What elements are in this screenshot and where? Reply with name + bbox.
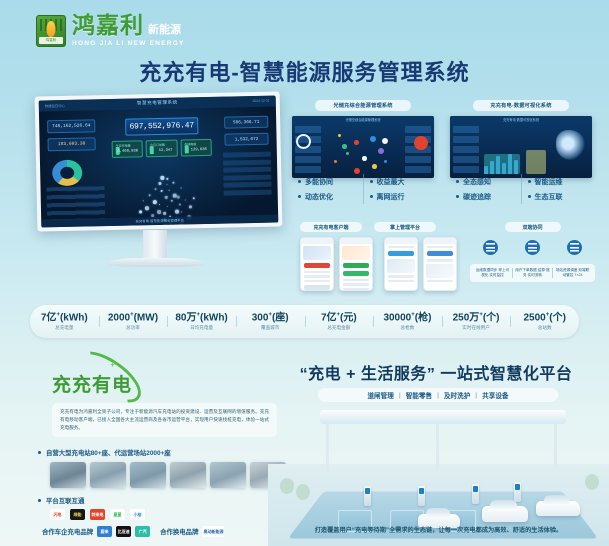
battery-icon [150, 146, 154, 154]
bullet-label: 收益最大 [377, 177, 405, 187]
company-logo: 鸿嘉利 鸿嘉利 新能源 HONG JIA LI NEW ENERGY [36, 14, 185, 47]
stat-unit: (kWh) [200, 312, 228, 323]
partner-brand-logo: 闪电 [50, 509, 65, 520]
dashboard-kpi-main: 697,552,976.47 [125, 117, 198, 136]
bullet-label: 多能协同 [305, 177, 333, 187]
phone-statusbar [424, 238, 456, 244]
feature-bullet: 动态优化 [298, 189, 363, 204]
logo-flame-icon [47, 21, 56, 37]
screenshot-china-map [556, 130, 586, 160]
list-item [223, 159, 271, 165]
logo-company-cn: 鸿嘉利 [72, 14, 144, 37]
bullet-dot-icon [528, 195, 531, 198]
phone-mockup [339, 237, 373, 291]
phone-content-line [388, 275, 414, 277]
phone-content-line [388, 246, 414, 248]
bullet-dot-icon [456, 195, 459, 198]
left-feature-rows: 自营大型充电站80+座、代运营场站2000+座 平台互联互通 闪电 绿能 特来电… [38, 448, 288, 537]
panel [295, 156, 321, 163]
bullet-label: 智能运维 [535, 177, 563, 187]
page-header: 鸿嘉利 鸿嘉利 新能源 HONG JIA LI NEW ENERGY 充充有电-… [0, 0, 609, 96]
platform-headline: “充电 + 生活服务” 一站式智慧化平台 [268, 360, 604, 384]
stat-item: 2000+(MW) 总功率 [99, 312, 168, 331]
stat-unit: (个) [549, 312, 566, 323]
screenshot-left-panels [453, 126, 479, 176]
screenshot-gauge-ring [296, 134, 311, 149]
bullet-column: 多能协同 动态优化 [292, 174, 363, 204]
stat-number: 30000 [383, 312, 411, 323]
dashboard-kpi-left-1: 748,162,526.64 [47, 119, 95, 133]
dashboard-screenshot: 光储充综合能源管理系统 [292, 116, 434, 178]
screenshot-topbar: 光储充综合能源管理系统 [292, 116, 434, 123]
list-item [223, 167, 271, 173]
phone-content-line [343, 283, 369, 285]
list-item [223, 182, 271, 188]
charging-pile-icon [418, 486, 425, 506]
logo-company-cn-sub: 新能源 [148, 23, 181, 37]
sync-cell: 用户下单数据 结算·账务 实时流转 [512, 268, 552, 278]
dashboard-feature-bullets: 多能协同 动态优化 收益最大 离网运行 [292, 174, 434, 204]
partner-brand-logo: 特来电 [90, 509, 105, 520]
separator: | [475, 392, 477, 399]
service-tag: 智能零售 [406, 390, 432, 400]
stat-item: 250万+(个) 实时在线用户 [442, 312, 511, 331]
logo-text-block: 鸿嘉利 新能源 HONG JIA LI NEW ENERGY [72, 14, 185, 47]
list-item [223, 174, 271, 180]
scene-canopy-post [326, 422, 329, 472]
row-label: 合作换电品牌 [160, 527, 198, 536]
screenshot-right-panels [405, 126, 431, 176]
dashboard-kpi-right-2: 1,532,072 [224, 133, 268, 146]
scene-car [536, 501, 580, 516]
stat-unit: (MW) [134, 312, 158, 323]
stat-item: 300+(座) 覆盖城市 [236, 312, 305, 331]
panel [453, 146, 479, 153]
station-photo [170, 462, 206, 488]
station-photo [90, 462, 126, 488]
oem-brand-logo: 蔚来 [97, 526, 112, 537]
dashboard-mini-cards: 今日充电量 3,468,836 今日订单数 12,347 在线电桩 129,83… [112, 139, 212, 158]
bullet-dot-icon [298, 180, 301, 183]
row-label: 平台互联互通 [46, 496, 84, 505]
stat-label: 总功率 [99, 325, 168, 331]
bullet-label: 生态互联 [535, 192, 563, 202]
phone-chart-area [387, 259, 415, 273]
stat-unit: (枪) [415, 312, 432, 323]
stat-label: 总充电金额 [305, 325, 374, 331]
bullet-label: 碳迹追踪 [463, 192, 491, 202]
station-photo [50, 462, 86, 488]
monitor-bezel: 数据监控中心 智慧充电管理系统 2024-12-31 748,162,526.6… [35, 91, 283, 231]
app-labels: 充充有电客户端 掌上管理平台 [300, 222, 460, 232]
bullet-label: 动态优化 [305, 192, 333, 202]
phone-primary-button[interactable] [427, 251, 453, 256]
stat-item: 30000+(枪) 总枪数 [373, 312, 442, 331]
feature-bullet: 智能运维 [528, 174, 593, 189]
bullet-label: 离网运行 [377, 192, 405, 202]
monitor-stand-foot [108, 258, 204, 267]
stat-unit: (个) [483, 312, 500, 323]
swap-brand-group: 合作换电品牌 奥动新能源 [156, 526, 224, 537]
dashboard-donut-chart [52, 160, 83, 187]
mini-card-value: 3,468,836 [118, 149, 139, 153]
stat-number: 2500 [523, 312, 545, 323]
phone-mockup [300, 237, 334, 291]
stat-unit: (元) [340, 312, 357, 323]
panel [405, 156, 431, 163]
phone-content-line [427, 280, 453, 282]
dashboard-topbar: 数据监控中心 智慧充电管理系统 2024-12-31 [39, 96, 276, 112]
dashboard-feature-bullets: 全态感知 碳迹追踪 智能运维 生态互联 [450, 174, 592, 204]
app-label-client: 充充有电客户端 [300, 222, 362, 232]
dashboard-showcase: 光储充综合能源管理系统 光储充综合能源管理系统 多能协同 动态优化 [292, 100, 592, 218]
stat-number: 250万 [453, 312, 480, 323]
scene-tree [280, 478, 294, 494]
dashboard-mini-card: 今日订单数 12,347 [146, 140, 178, 158]
screenshot-left-panels [295, 126, 321, 176]
dashboard-side-list [223, 152, 272, 198]
dashboard-topbar-right: 2024-12-31 [252, 99, 269, 103]
stat-number: 300 [252, 312, 269, 323]
dashboard-topbar-left: 数据监控中心 [45, 103, 65, 108]
monitor-screen: 数据监控中心 智慧充电管理系统 2024-12-31 748,162,526.6… [39, 96, 279, 228]
sync-section-title: 双端协同 [505, 222, 561, 232]
phone-content-line [427, 246, 453, 248]
stat-number: 7亿 [41, 312, 57, 323]
brand-partner-rows: 合作车企充电品牌 蔚来 比亚迪 广汽 合作换电品牌 奥动新能源 [38, 526, 288, 537]
grid-icon [483, 240, 498, 255]
service-tag: 及时洗护 [444, 390, 470, 400]
bullet-dot-icon [38, 451, 41, 454]
panel [295, 166, 321, 173]
stat-item: 7亿+(kWh) 总充电量 [30, 312, 99, 331]
service-tag: 道闸管理 [367, 390, 393, 400]
stat-value: 30000+(枪) [373, 312, 442, 323]
charging-pile-icon [364, 486, 371, 506]
panel [453, 156, 479, 163]
dashboard-mini-card: 在线电桩 129,836 [180, 139, 212, 157]
stat-item: 2500+(个) 总站数 [510, 312, 579, 331]
stat-value: 250万+(个) [442, 312, 511, 323]
screenshot-alert-indicator [414, 136, 428, 150]
scene-tree [296, 484, 310, 500]
feature-bullet: 生态互联 [528, 189, 593, 204]
dashboard-card-title: 光储充综合能源管理系统 [315, 100, 411, 111]
phone-content-line [427, 259, 453, 261]
mobile-apps-showcase: 充充有电客户端 掌上管理平台 [300, 222, 460, 291]
phone-content-line [388, 280, 414, 282]
phone-mockup [423, 237, 457, 291]
phone-chart-area [426, 264, 454, 278]
grid-icon [525, 240, 540, 255]
bullet-dot-icon [528, 180, 531, 183]
bullet-dot-icon [298, 195, 301, 198]
row-label: 自营大型充电站80+座、代运营场站2000+座 [46, 448, 171, 457]
dashboard-screen-title: 智慧充电管理系统 [137, 100, 178, 107]
screenshot-panel-green [484, 154, 520, 174]
oem-brand-logo: 比亚迪 [116, 526, 131, 537]
partner-brand-logo: 小桔 [130, 509, 145, 520]
swap-brand-logo: 奥动新能源 [202, 526, 224, 537]
monitor-stand-neck [143, 230, 167, 260]
separator: | [399, 392, 401, 399]
panel [405, 166, 431, 173]
stat-label: 总充电量 [30, 325, 99, 331]
stat-number: 7亿 [321, 312, 337, 323]
oem-brand-group: 合作车企充电品牌 蔚来 比亚迪 广汽 [38, 526, 150, 537]
subsidiary-brand-logo: 充充有电 [52, 362, 182, 398]
company-intro-text: 充充有电为鸿嘉利全资子公司，专注于新能源汽车充电站的投资建设、运营及互联网的增值… [52, 403, 277, 437]
stat-value: 300+(座) [236, 312, 305, 323]
scene-car [482, 506, 528, 522]
phone-hero-banner [303, 246, 331, 260]
stat-number: 2000 [108, 312, 130, 323]
station-photo [210, 462, 246, 488]
panel [453, 166, 479, 173]
phone-primary-button[interactable] [388, 251, 414, 256]
scene-canopy-post [436, 422, 439, 470]
stat-unit: (kWh) [60, 312, 88, 323]
screenshot-topology-graph [324, 126, 402, 175]
phone-primary-button[interactable] [343, 271, 369, 276]
phone-content-line [304, 280, 330, 282]
charging-pile-icon [472, 484, 479, 504]
dashboard-kpi-left-2: 183,603.30 [47, 137, 95, 151]
panel [405, 126, 431, 133]
stat-label: 日均充电量 [167, 325, 236, 331]
feature-bullet: 离网运行 [370, 189, 435, 204]
panel [453, 126, 479, 133]
screenshot-title: 充充有电·数据可视化系统 [503, 117, 539, 122]
desktop-monitor-mockup: 数据监控中心 智慧充电管理系统 2024-12-31 748,162,526.6… [30, 94, 285, 289]
bullet-column: 智能运维 生态互联 [521, 174, 593, 204]
sync-icon-row [470, 240, 595, 255]
list-item [223, 152, 271, 158]
bullet-dot-icon [370, 195, 373, 198]
scene-caption: 打造覆盖用户“充电等待期”全需求的生态链，让每一次充电都成为高效、舒适的生活体验… [268, 525, 609, 534]
phone-content-line [304, 275, 330, 277]
dashboard-kpi-right-1: 586,366.71 [224, 116, 268, 129]
stat-unit: (座) [272, 312, 289, 323]
stat-number: 80万 [175, 312, 196, 323]
phone-statusbar [340, 238, 372, 244]
phone-mockups [300, 237, 460, 291]
dashboard-footer-text: 充充有电·智慧能源服务管理平台 [135, 217, 184, 223]
logo-company-en: HONG JIA LI NEW ENERGY [72, 40, 185, 47]
sync-cell: 场站资源调度 双端联动管控 7×24 [552, 268, 592, 278]
stat-value: 2500+(个) [510, 312, 579, 323]
bullet-dot-icon [370, 180, 373, 183]
stat-label: 总枪数 [373, 325, 442, 331]
feature-bullet: 收益最大 [370, 174, 435, 189]
stat-label: 覆盖城市 [236, 325, 305, 331]
screenshot-topbar: 充充有电·数据可视化系统 [450, 116, 592, 123]
logo-base-plate: 鸿嘉利 [39, 37, 63, 44]
phone-secondary-button[interactable] [304, 285, 330, 290]
scene-canopy-post [554, 422, 557, 468]
bullet-dot-icon [38, 499, 41, 502]
station-photo [130, 462, 166, 488]
subsidiary-brand-name: 充充有电 [52, 370, 132, 397]
row-title-stations: 自营大型充电站80+座、代运营场站2000+座 [38, 448, 288, 457]
dashboard-card-title: 充充有电-数据可视化系统 [473, 100, 569, 111]
phone-statusbar [385, 238, 417, 244]
battery-icon [184, 145, 188, 153]
dashboard-screenshot: 充充有电·数据可视化系统 [450, 116, 592, 178]
partner-brand-logos: 闪电 绿能 特来电 星星 小桔 [50, 509, 288, 520]
dashboard-card-visualization: 充充有电-数据可视化系统 充充有电·数据可视化系统 [450, 100, 592, 178]
stat-label: 实时在线用户 [442, 325, 511, 331]
phone-statusbar [301, 238, 333, 244]
dashboard-map-cluster [118, 159, 219, 223]
stat-label: 总站数 [510, 325, 579, 331]
stat-value: 2000+(MW) [99, 312, 168, 323]
charging-pile-icon [514, 482, 521, 502]
phone-primary-button[interactable] [304, 263, 330, 268]
app-label-admin: 掌上管理平台 [374, 222, 436, 232]
bullet-column: 全态感知 碳迹追踪 [450, 174, 521, 204]
oem-brand-logo: 广汽 [135, 526, 150, 537]
separator: | [437, 392, 439, 399]
service-tag: 共享设备 [482, 390, 508, 400]
stat-value: 7亿+(kWh) [30, 312, 99, 323]
stat-value: 7亿+(元) [305, 312, 374, 323]
mini-card-value: 129,836 [191, 148, 207, 152]
feature-bullet: 碳迹追踪 [456, 189, 521, 204]
grid-icon [567, 240, 582, 255]
panel [453, 136, 479, 143]
phone-content-line [304, 271, 330, 273]
screenshot-panel-yellow [526, 150, 546, 174]
screenshot-title: 光储充综合能源管理系统 [345, 117, 380, 122]
scene-canopy [320, 410, 566, 424]
phone-mockup [384, 237, 418, 291]
mini-card-value: 12,347 [159, 149, 173, 153]
dashboard-data-grid [47, 186, 106, 221]
logo-mark-icon: 鸿嘉利 [36, 15, 66, 47]
phone-content-line [343, 279, 369, 281]
phone-content-line [343, 288, 369, 290]
partner-brand-logo: 绿能 [70, 509, 85, 520]
bullet-label: 全态感知 [463, 177, 491, 187]
dual-end-sync-section: 双端协同 运维数据同步 掌上可视化 实时监控 用户下单数据 结算·账务 实时流转… [470, 222, 595, 282]
dashboard-card-energy: 光储充综合能源管理系统 光储充综合能源管理系统 多能协同 动态优化 [292, 100, 434, 178]
phone-primary-button[interactable] [343, 263, 369, 268]
dashboard-mini-card: 今日充电量 3,468,836 [112, 140, 144, 158]
page-title: 充充有电-智慧能源服务管理系统 [0, 55, 609, 87]
stat-item: 7亿+(元) 总充电金额 [305, 312, 374, 331]
bullet-dot-icon [456, 180, 459, 183]
feature-bullet: 多能协同 [298, 174, 363, 189]
panel [295, 126, 321, 133]
station-photo-strip [50, 462, 288, 488]
row-title-interop: 平台互联互通 [38, 496, 288, 505]
logo-badge-text: 鸿嘉利 [39, 37, 63, 44]
stat-value: 80万+(kWh) [167, 312, 236, 323]
statistics-strip: 7亿+(kWh) 总充电量 2000+(MW) 总功率 80万+(kWh) 日均… [30, 305, 579, 338]
list-item [224, 189, 272, 195]
partner-brand-logo: 星星 [110, 509, 125, 520]
row-label: 合作车企充电品牌 [42, 527, 93, 536]
bullet-column: 收益最大 离网运行 [363, 174, 435, 204]
scene-tree [585, 474, 599, 490]
stat-item: 80万+(kWh) 日均充电量 [167, 312, 236, 331]
platform-service-tags: 道闸管理| 智能零售| 及时洗护| 共享设备 [318, 388, 558, 402]
sync-description-card: 运维数据同步 掌上可视化 实时监控 用户下单数据 结算·账务 实时流转 场站资源… [470, 264, 595, 282]
phone-hero-banner [342, 246, 370, 260]
sync-cell: 运维数据同步 掌上可视化 实时监控 [473, 268, 512, 278]
feature-bullet: 全态感知 [456, 174, 521, 189]
